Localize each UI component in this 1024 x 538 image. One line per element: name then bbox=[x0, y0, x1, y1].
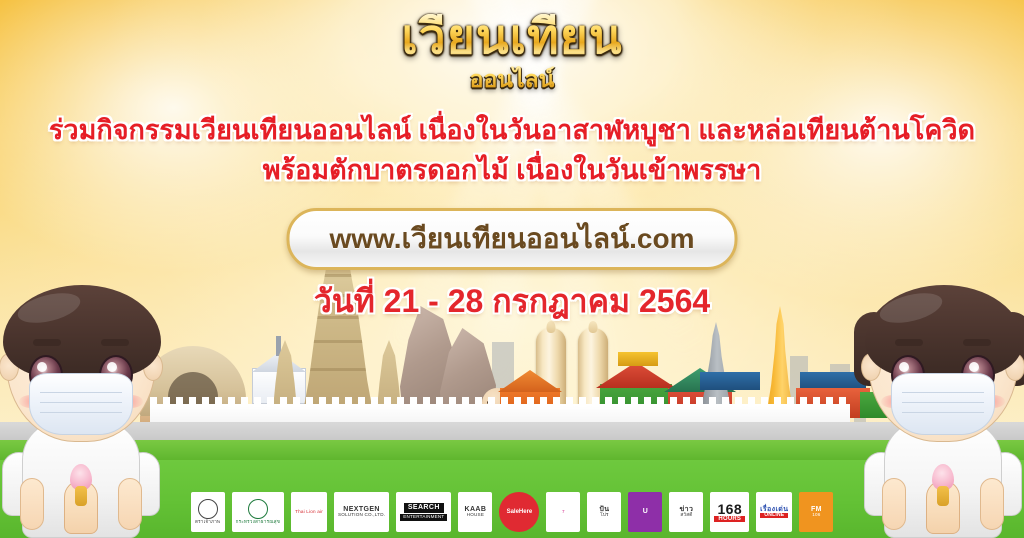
sponsor-search[interactable]: SEARCHENTERTAINMENT bbox=[396, 492, 451, 532]
sponsor-fm106-secondary-label: 106 bbox=[812, 513, 820, 518]
sponsor-sale-here-primary-label: Sale bbox=[507, 509, 519, 515]
sponsor-nextgen-secondary-label: SOLUTION CO.,LTD. bbox=[338, 513, 385, 518]
sponsor-fm106[interactable]: FM106 bbox=[799, 492, 833, 532]
sponsor-u[interactable]: U bbox=[628, 492, 662, 532]
sponsor-168-hours-primary-label: 168 bbox=[717, 502, 742, 517]
sponsor-7-secondary-label: 7 bbox=[562, 510, 565, 515]
sponsor-sale-here[interactable]: SaleHere bbox=[499, 492, 539, 532]
page-subtitle: ออนไลน์ bbox=[0, 62, 1024, 98]
temple-gable-gold bbox=[618, 352, 658, 366]
girl-eyebrow-right bbox=[963, 339, 991, 346]
sponsor-pun-pro[interactable]: ปันโปร bbox=[587, 492, 621, 532]
sponsor-sale-here-secondary-label: Here bbox=[519, 509, 532, 515]
girl-eyebrow-left bbox=[895, 339, 923, 346]
page-title: เวียนเทียน bbox=[0, 14, 1024, 63]
lotus-flower bbox=[932, 464, 954, 490]
face-mask bbox=[29, 373, 133, 435]
sponsor-search-secondary-label: ENTERTAINMENT bbox=[400, 514, 447, 521]
wall-crenellations bbox=[150, 397, 850, 407]
sponsor-moph-emblem-icon bbox=[248, 499, 268, 519]
sponsor-u-primary-label: U bbox=[643, 508, 648, 515]
sponsor-pun-pro-secondary-label: โปร bbox=[600, 513, 608, 518]
boy-arm-right bbox=[118, 478, 142, 530]
event-date-range: วันที่ 21 - 28 กรกฎาคม 2564 bbox=[0, 276, 1024, 327]
sponsor-moph-secondary-label: กระทรวงสาธารณสุข bbox=[236, 520, 280, 525]
temple-roof-blue bbox=[700, 372, 760, 390]
sponsor-online-news[interactable]: เรื่องเด่นONLINE bbox=[756, 492, 792, 532]
sponsor-moph[interactable]: กระทรวงสาธารณสุข bbox=[232, 492, 284, 532]
girl-arm-right bbox=[980, 478, 1004, 530]
website-url-text: www.เวียนเทียนออนไลน์.com bbox=[330, 217, 695, 261]
sponsor-kaab-house[interactable]: KAABHOUSE bbox=[458, 492, 492, 532]
lotus-flower bbox=[70, 464, 92, 490]
sponsor-portrait-secondary-label: ตราเจ้าภาพ bbox=[195, 520, 220, 525]
sponsor-thai-lion[interactable]: Thai Lion air bbox=[291, 492, 327, 532]
boy-arm-left bbox=[20, 478, 44, 530]
promotional-banner: ตราเจ้าภาพกระทรวงสาธารณสุขThai Lion airN… bbox=[0, 0, 1024, 538]
sponsor-khao-sod-secondary-label: สวัสดี bbox=[680, 513, 692, 518]
sponsor-kaab-house-secondary-label: HOUSE bbox=[467, 513, 484, 518]
sponsor-thai-lion-secondary-label: Thai Lion air bbox=[295, 510, 323, 515]
headline-line-1: ร่วมกิจกรรมเวียนเทียนออนไลน์ เนื่องในวัน… bbox=[0, 108, 1024, 151]
sponsor-portrait[interactable]: ตราเจ้าภาพ bbox=[191, 492, 225, 532]
headline-line-2: พร้อมตักบาตรดอกไม้ เนื่องในวันเข้าพรรษา bbox=[0, 148, 1024, 191]
face-mask bbox=[891, 373, 995, 435]
boy-eyebrow-right bbox=[101, 339, 129, 346]
sponsor-search-primary-label: SEARCH bbox=[404, 503, 444, 512]
website-url-pill[interactable]: www.เวียนเทียนออนไลน์.com bbox=[287, 208, 738, 270]
sponsor-168-hours[interactable]: 168HOURS bbox=[710, 492, 749, 532]
sponsor-online-news-secondary-label: ONLINE bbox=[760, 513, 788, 518]
mahabodhi-temple bbox=[295, 248, 381, 418]
girl-arm-left bbox=[882, 478, 906, 530]
sponsor-nextgen[interactable]: NEXTGENSOLUTION CO.,LTD. bbox=[334, 492, 389, 532]
sponsor-168-hours-secondary-label: HOURS bbox=[714, 516, 745, 522]
sponsor-portrait-emblem-icon bbox=[198, 499, 218, 519]
sponsor-7[interactable]: 7 bbox=[546, 492, 580, 532]
boy-eyebrow-left bbox=[33, 339, 61, 346]
sponsor-khao-sod[interactable]: ข่าวสวัสดี bbox=[669, 492, 703, 532]
